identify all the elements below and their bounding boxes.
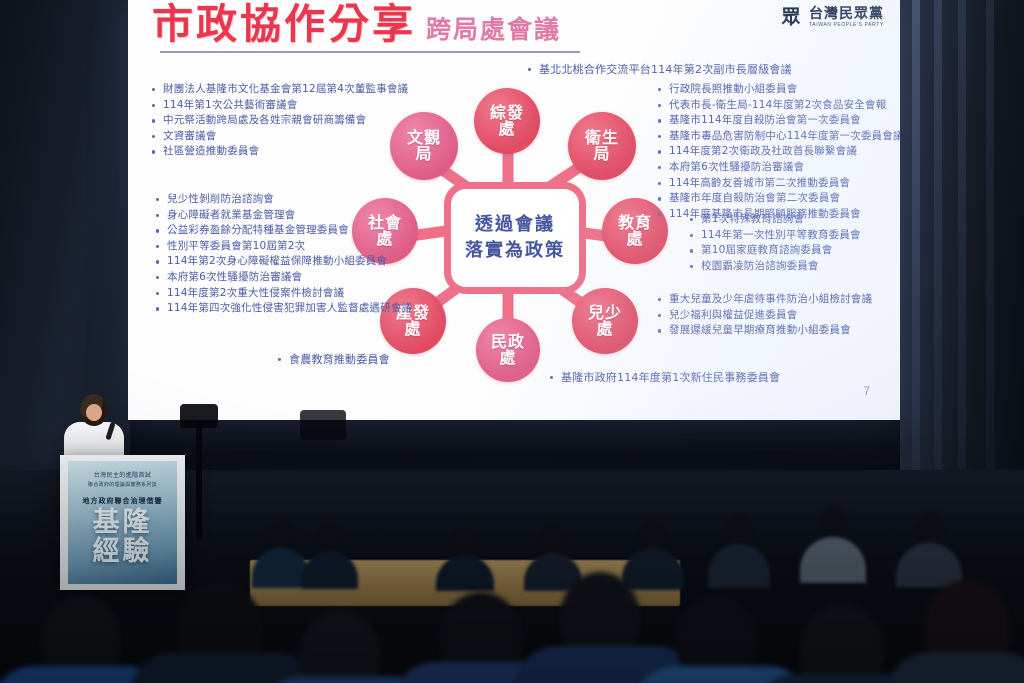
list-item: 114年度第2次衛政及社政首長聯繫會議 — [656, 144, 900, 160]
list-shehui: 兒少性剝削防治諮詢會身心障礙者就業基金管理會公益彩券盈餘分配特種基金管理委員會性… — [154, 192, 412, 317]
slide-title-sub: 跨局處會議 — [426, 17, 561, 45]
list-weisheng: 行政院長照推動小組委員會代表市長-衛生局-114年度第2次食品安全會報基隆市11… — [656, 82, 900, 222]
list-minzheng: 基隆市政府114年度第1次新住民事務委員會 — [548, 370, 780, 386]
list-item: 114年高齡友善城市第二次推動委員會 — [656, 176, 900, 192]
podium-banner: 台灣民主的進階首試 聯合政府的理論與實務系列談 地方政府聯合治理借鑒 基隆 經驗 — [68, 461, 177, 584]
list-wenguan: 財團法人基隆市文化基金會第12屆第4次董監事會議114年第1次公共藝術審議會中元… — [150, 82, 408, 160]
projection-screen: 市政協作分享 跨局處會議 眾 台灣民眾黨 TAIWAN PEOPLE'S PAR… — [128, 0, 900, 420]
list-item: 114年度第2次重大性侵案件檢討會議 — [154, 286, 412, 302]
slide-title: 市政協作分享 跨局處會議 — [152, 4, 561, 45]
list-item: 行政院長照推動小組委員會 — [656, 82, 900, 98]
node-zongfa-label: 綜發處 — [485, 105, 529, 138]
list-ershao-items: 重大兒童及少年虐待事件防治小組檢討會議兒少福利與權益促進委員會發展遲緩兒童早期療… — [656, 292, 872, 339]
stage-light — [300, 410, 346, 440]
podium: 台灣民主的進階首試 聯合政府的理論與實務系列談 地方政府聯合治理借鑒 基隆 經驗 — [60, 455, 185, 590]
list-item: 本府第6次性騷擾防治審議會 — [656, 160, 900, 176]
podium-line-3: 地方政府聯合治理借鑒 — [68, 496, 177, 506]
list-ershao: 重大兒童及少年虐待事件防治小組檢討會議兒少福利與權益促進委員會發展遲緩兒童早期療… — [656, 292, 872, 339]
list-item: 兒少福利與權益促進委員會 — [656, 308, 872, 324]
list-item: 114年第一次性別平等教育委員會 — [688, 228, 861, 244]
party-name-zh: 台灣民眾黨 — [809, 7, 884, 21]
party-name-en: TAIWAN PEOPLE'S PARTY — [809, 23, 884, 28]
node-minzheng: 民政處 — [476, 318, 540, 382]
list-item: 身心障礙者就業基金管理會 — [154, 208, 412, 224]
list-item: 性別平等委員會第10屆第2次 — [154, 239, 412, 255]
list-shehui-items: 兒少性剝削防治諮詢會身心障礙者就業基金管理會公益彩券盈餘分配特種基金管理委員會性… — [154, 192, 412, 317]
node-zongfa: 綜發處 — [474, 88, 540, 154]
title-underline — [160, 51, 580, 53]
slide-page-number: 7 — [863, 384, 870, 398]
node-weisheng-label: 衛生局 — [580, 130, 624, 163]
list-minzheng-items: 基隆市政府114年度第1次新住民事務委員會 — [548, 370, 780, 386]
list-item: 公益彩券盈餘分配特種基金管理委員會 — [154, 223, 412, 239]
camera-tripod — [196, 420, 202, 540]
node-ershao-label: 兒少處 — [583, 305, 627, 338]
list-item: 校園霸凌防治諮詢委員會 — [688, 259, 861, 275]
list-item: 基隆市114年度自殺防治會第一次委員會 — [656, 113, 900, 129]
list-item: 重大兒童及少年虐待事件防治小組檢討會議 — [656, 292, 872, 308]
list-chanfa: 食農教育推動委員會 — [276, 352, 390, 368]
list-item: 114年第2次身心障礙權益保障推動小組委員會 — [154, 254, 412, 270]
list-zongfa: 基北北桃合作交流平台114年第2次副市長層級會議 — [526, 62, 792, 78]
node-jiaoyu-label: 教育處 — [613, 215, 657, 248]
list-item: 基隆市毒品危害防制中心114年度第一次委員會議 — [656, 129, 900, 145]
list-item: 第10屆家庭教育諮詢委員會 — [688, 243, 861, 259]
tpp-emblem-icon: 眾 — [777, 5, 803, 29]
camera-body — [180, 404, 218, 428]
screenshot-stage: 市政協作分享 跨局處會議 眾 台灣民眾黨 TAIWAN PEOPLE'S PAR… — [0, 0, 1024, 683]
center-message-box: 透過會議 落實為政策 — [444, 182, 586, 294]
list-zongfa-items: 基北北桃合作交流平台114年第2次副市長層級會議 — [526, 62, 792, 78]
podium-big-1: 基隆 — [68, 509, 177, 537]
list-item: 基隆市政府114年度第1次新住民事務委員會 — [548, 370, 780, 386]
list-jiaoyu-items: 第1次特殊教育諮詢會114年第一次性別平等教育委員會第10屆家庭教育諮詢委員會校… — [688, 212, 861, 274]
center-line-2: 落實為政策 — [465, 241, 565, 262]
list-item: 發展遲緩兒童早期療育推動小組委員會 — [656, 323, 872, 339]
center-line-1: 透過會議 — [475, 215, 555, 236]
list-wenguan-items: 財團法人基隆市文化基金會第12屆第4次董監事會議114年第1次公共藝術審議會中元… — [150, 82, 408, 160]
podium-big-2: 經驗 — [68, 538, 177, 566]
list-item: 代表市長-衛生局-114年度第2次食品安全會報 — [656, 98, 900, 114]
node-weisheng: 衛生局 — [568, 112, 636, 180]
podium-line-2: 聯合政府的理論與實務系列談 — [68, 481, 177, 488]
party-logo: 眾 台灣民眾黨 TAIWAN PEOPLE'S PARTY — [777, 5, 884, 29]
list-item: 第1次特殊教育諮詢會 — [688, 212, 861, 228]
node-ershao: 兒少處 — [572, 288, 638, 354]
list-chanfa-items: 食農教育推動委員會 — [276, 352, 390, 368]
list-item: 本府第6次性騷擾防治審議會 — [154, 270, 412, 286]
list-item: 食農教育推動委員會 — [276, 352, 390, 368]
slide-title-main: 市政協作分享 — [152, 4, 416, 45]
list-item: 基北北桃合作交流平台114年第2次副市長層級會議 — [526, 62, 792, 78]
list-weisheng-items: 行政院長照推動小組委員會代表市長-衛生局-114年度第2次食品安全會報基隆市11… — [656, 82, 900, 222]
node-minzheng-label: 民政處 — [486, 334, 530, 367]
list-item: 財團法人基隆市文化基金會第12屆第4次董監事會議 — [150, 82, 408, 98]
list-item: 114年第1次公共藝術審議會 — [150, 98, 408, 114]
list-jiaoyu: 第1次特殊教育諮詢會114年第一次性別平等教育委員會第10屆家庭教育諮詢委員會校… — [688, 212, 861, 274]
list-item: 基隆市年度自殺防治會第二次委員會 — [656, 191, 900, 207]
list-item: 114年第四次強化性侵害犯罪加害人監督處遇研會議 — [154, 301, 412, 317]
list-item: 中元祭活動跨局處及各姓宗親會研商籌備會 — [150, 113, 408, 129]
podium-line-1: 台灣民主的進階首試 — [68, 470, 177, 479]
right-wall — [900, 0, 1024, 470]
list-item: 社區營造推動委員會 — [150, 144, 408, 160]
list-item: 文資審議會 — [150, 129, 408, 145]
list-item: 兒少性剝削防治諮詢會 — [154, 192, 412, 208]
node-wenguan-label: 文觀局 — [402, 130, 446, 163]
